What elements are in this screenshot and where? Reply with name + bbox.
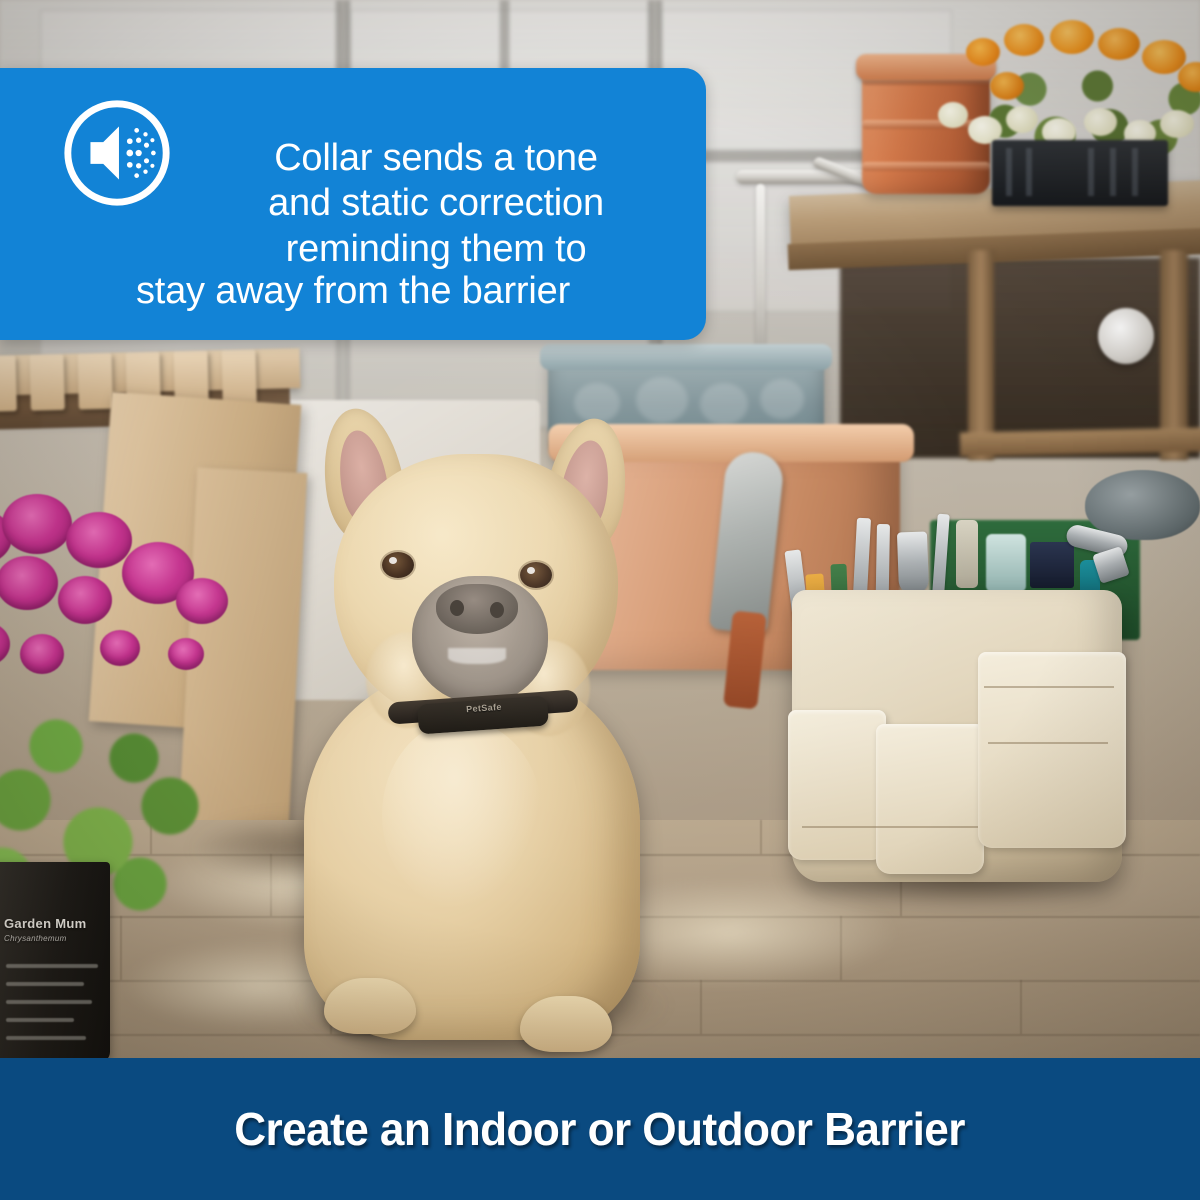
- callout-text-block: Collar sends a tone and static correctio…: [180, 136, 692, 272]
- workbench-shelf: [960, 427, 1200, 456]
- stone-planter-rim: [540, 344, 832, 370]
- callout-line-3: reminding them to: [180, 227, 692, 272]
- garden-mum-plant-pot: [0, 862, 110, 1058]
- nursery-flat-tray: [992, 140, 1168, 206]
- dog-paw-left: [324, 978, 416, 1034]
- pink-mum-blossoms: [0, 490, 240, 750]
- dog-chest: [382, 720, 542, 910]
- callout-line-2: and static correction: [180, 181, 692, 226]
- workbench-leg-left: [968, 250, 994, 460]
- dog-eye-left: [382, 552, 414, 578]
- french-bulldog: PetSafe: [262, 400, 692, 1058]
- callout-line-1: Collar sends a tone: [180, 136, 692, 181]
- marketing-image: Garden Mum Chrysanthemum: [0, 0, 1200, 1200]
- speaker-static-tone-icon: [58, 94, 176, 212]
- dog-nose: [436, 584, 518, 634]
- plant-pot-label-title: Garden Mum: [4, 916, 86, 931]
- dog-lip: [448, 648, 506, 664]
- dog-paw-right: [520, 996, 612, 1052]
- bottom-banner: Create an Indoor or Outdoor Barrier: [0, 1058, 1200, 1200]
- callout-line-4: stay away from the barrier: [0, 269, 706, 314]
- canvas-tool-bag: [792, 590, 1122, 882]
- wooden-rack-rail: [0, 348, 300, 396]
- dog-eye-right: [520, 562, 552, 588]
- feature-callout-box: Collar sends a tone and static correctio…: [0, 68, 706, 340]
- tape-roll: [1098, 308, 1154, 364]
- plant-pot-label-subtitle: Chrysanthemum: [4, 934, 67, 943]
- banner-title: Create an Indoor or Outdoor Barrier: [235, 1102, 966, 1156]
